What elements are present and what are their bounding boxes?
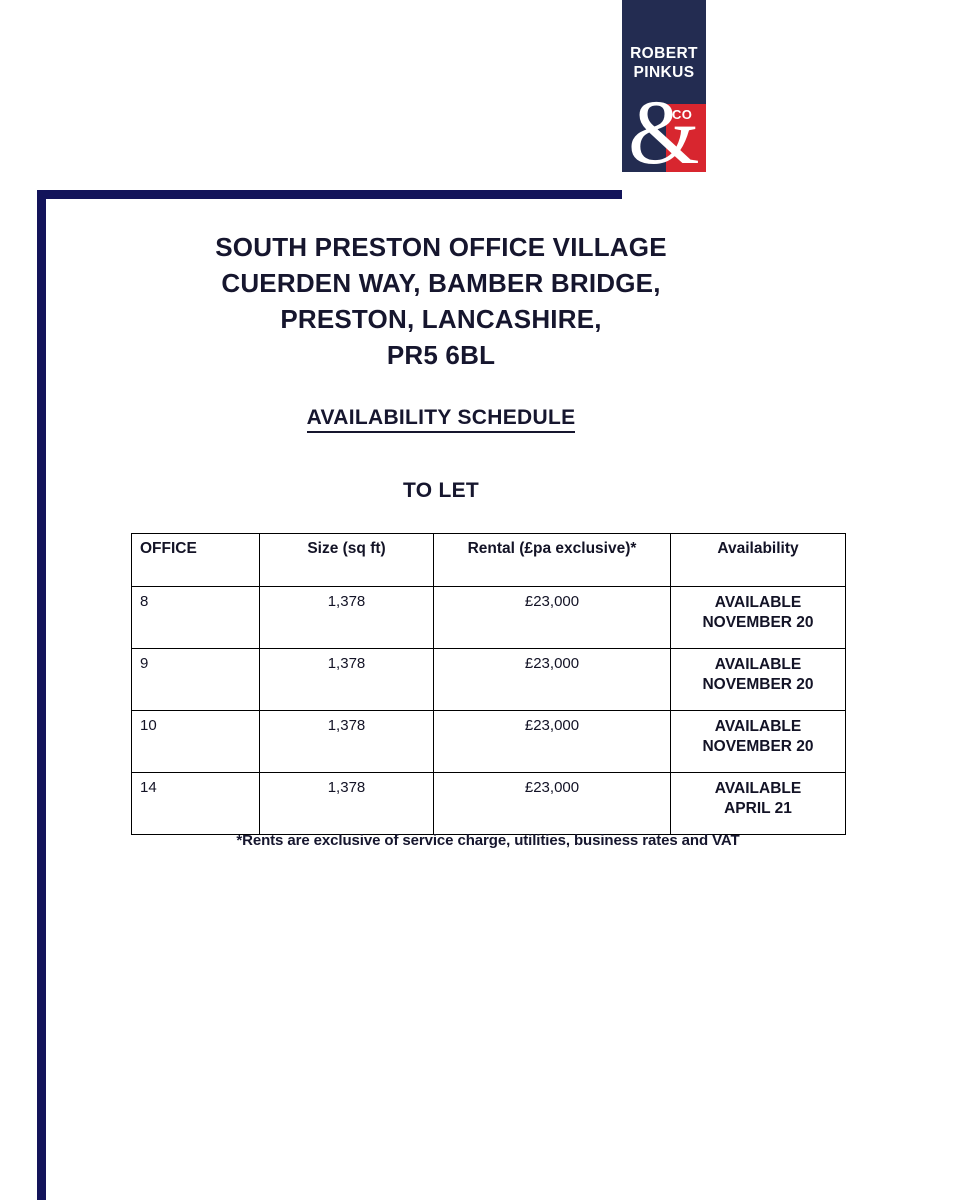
availability-line-1: AVAILABLE (679, 779, 837, 799)
cell-rental: £23,000 (434, 587, 671, 649)
address-line-2: CUERDEN WAY, BAMBER BRIDGE, (46, 265, 836, 301)
rents-footnote: *Rents are exclusive of service charge, … (131, 832, 845, 849)
document-body: SOUTH PRESTON OFFICE VILLAGE CUERDEN WAY… (46, 199, 964, 1200)
column-header-rental: Rental (£pa exclusive)* (434, 534, 671, 587)
column-header-size: Size (sq ft) (260, 534, 434, 587)
logo-wordmark-line-1: ROBERT (622, 44, 706, 63)
availability-line-1: AVAILABLE (679, 655, 837, 675)
address-line-4-postcode: PR5 6BL (46, 337, 836, 373)
availability-line-2: NOVEMBER 20 (679, 613, 837, 633)
table-row: 10 1,378 £23,000 AVAILABLE NOVEMBER 20 (132, 711, 846, 773)
table-row: 14 1,378 £23,000 AVAILABLE APRIL 21 (132, 773, 846, 835)
cell-size: 1,378 (260, 773, 434, 835)
cell-availability: AVAILABLE NOVEMBER 20 (671, 587, 846, 649)
availability-schedule-heading-text: AVAILABILITY SCHEDULE (307, 406, 576, 433)
table-row: 8 1,378 £23,000 AVAILABLE NOVEMBER 20 (132, 587, 846, 649)
table-row: 9 1,378 £23,000 AVAILABLE NOVEMBER 20 (132, 649, 846, 711)
availability-line-1: AVAILABLE (679, 593, 837, 613)
availability-table: OFFICE Size (sq ft) Rental (£pa exclusiv… (131, 533, 846, 835)
to-let-heading: TO LET (46, 479, 836, 503)
address-line-1: SOUTH PRESTON OFFICE VILLAGE (46, 229, 836, 265)
cell-rental: £23,000 (434, 711, 671, 773)
availability-line-2: NOVEMBER 20 (679, 675, 837, 695)
cell-size: 1,378 (260, 711, 434, 773)
column-header-office: OFFICE (132, 534, 260, 587)
page-frame-top-rule (37, 190, 622, 199)
cell-office: 8 (132, 587, 260, 649)
logo-wordmark-line-2: PINKUS (622, 63, 706, 82)
page-frame-left-rule (37, 190, 46, 1200)
availability-line-2: NOVEMBER 20 (679, 737, 837, 757)
logo-wordmark: ROBERT PINKUS (622, 44, 706, 82)
cell-availability: AVAILABLE NOVEMBER 20 (671, 649, 846, 711)
availability-schedule-heading: AVAILABILITY SCHEDULE (46, 406, 836, 430)
availability-line-1: AVAILABLE (679, 717, 837, 737)
cell-office: 9 (132, 649, 260, 711)
cell-size: 1,378 (260, 587, 434, 649)
availability-line-2: APRIL 21 (679, 799, 837, 819)
cell-availability: AVAILABLE NOVEMBER 20 (671, 711, 846, 773)
cell-office: 14 (132, 773, 260, 835)
table-header-row: OFFICE Size (sq ft) Rental (£pa exclusiv… (132, 534, 846, 587)
address-line-3: PRESTON, LANCASHIRE, (46, 301, 836, 337)
cell-size: 1,378 (260, 649, 434, 711)
cell-rental: £23,000 (434, 773, 671, 835)
cell-rental: £23,000 (434, 649, 671, 711)
column-header-availability: Availability (671, 534, 846, 587)
property-address-heading: SOUTH PRESTON OFFICE VILLAGE CUERDEN WAY… (46, 229, 836, 373)
cell-availability: AVAILABLE APRIL 21 (671, 773, 846, 835)
company-logo: ROBERT PINKUS CO & (622, 0, 706, 172)
cell-office: 10 (132, 711, 260, 773)
logo-ampersand-icon: & (628, 86, 704, 172)
